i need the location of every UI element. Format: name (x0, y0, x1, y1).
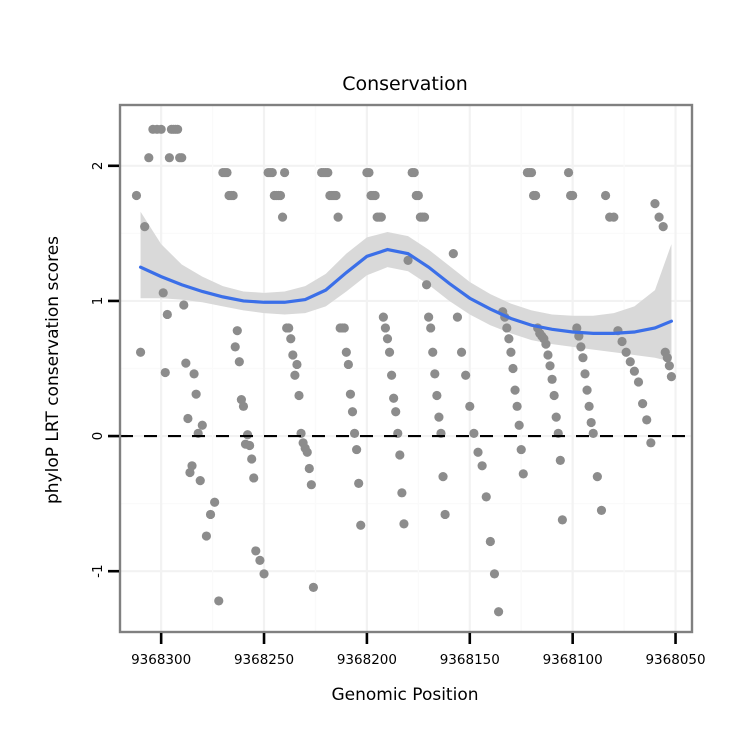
data-point (389, 394, 398, 403)
data-point (163, 310, 172, 319)
data-point (307, 480, 316, 489)
data-point (504, 334, 513, 343)
data-point (449, 249, 458, 258)
data-point (422, 280, 431, 289)
data-point (303, 448, 312, 457)
data-point (609, 213, 618, 222)
data-point (391, 407, 400, 416)
data-point (517, 445, 526, 454)
y-tick-label: 0 (90, 432, 106, 441)
data-point (334, 213, 343, 222)
x-tick-label: 9368300 (131, 652, 191, 668)
x-tick-label: 9368200 (337, 652, 397, 668)
data-point (414, 191, 423, 200)
data-point (513, 402, 522, 411)
data-point (161, 368, 170, 377)
x-tick-label: 9368100 (543, 652, 603, 668)
data-point (432, 391, 441, 400)
data-point (515, 421, 524, 430)
data-point (210, 498, 219, 507)
data-point (231, 342, 240, 351)
data-point (377, 213, 386, 222)
data-point (646, 438, 655, 447)
data-point (486, 537, 495, 546)
chart-canvas: Conservation phyloP LRT conservation sco… (0, 0, 750, 750)
data-point (453, 313, 462, 322)
data-point (597, 506, 606, 515)
data-point (564, 168, 573, 177)
data-point (457, 348, 466, 357)
data-point (634, 377, 643, 386)
x-tick-label: 9368250 (234, 652, 294, 668)
data-point (159, 288, 168, 297)
data-point (589, 429, 598, 438)
data-point (278, 213, 287, 222)
data-point (593, 472, 602, 481)
data-point (187, 461, 196, 470)
data-point (473, 448, 482, 457)
y-tick-label: 1 (90, 297, 106, 306)
data-point (397, 488, 406, 497)
data-point (229, 191, 238, 200)
x-tick-label: 9368150 (440, 652, 500, 668)
data-point (434, 413, 443, 422)
data-point (556, 456, 565, 465)
data-point (309, 583, 318, 592)
data-point (519, 469, 528, 478)
data-point (364, 168, 373, 177)
data-point (288, 350, 297, 359)
data-point (438, 472, 447, 481)
data-point (638, 399, 647, 408)
data-point (352, 445, 361, 454)
data-point (440, 510, 449, 519)
data-point (650, 199, 659, 208)
data-point (420, 213, 429, 222)
data-point (276, 191, 285, 200)
y-tick-label: 2 (90, 162, 106, 171)
data-point (626, 357, 635, 366)
data-point (494, 607, 503, 616)
data-point (430, 369, 439, 378)
data-point (585, 402, 594, 411)
y-axis-title: phyloP LRT conservation scores (43, 236, 63, 504)
data-point (189, 369, 198, 378)
data-point (346, 390, 355, 399)
x-tick-label: 9368050 (645, 652, 705, 668)
data-point (222, 168, 231, 177)
data-point (630, 367, 639, 376)
data-point (379, 313, 388, 322)
data-point (663, 353, 672, 362)
data-point (508, 364, 517, 373)
data-point (294, 391, 303, 400)
data-point (558, 515, 567, 524)
y-tick-label: -1 (90, 564, 106, 577)
data-point (344, 360, 353, 369)
data-point (478, 461, 487, 470)
data-point (541, 340, 550, 349)
data-point (642, 415, 651, 424)
data-point (385, 348, 394, 357)
data-point (251, 546, 260, 555)
data-point (132, 191, 141, 200)
data-point (268, 168, 277, 177)
data-point (136, 348, 145, 357)
data-point (531, 191, 540, 200)
data-point (280, 168, 289, 177)
data-point (465, 402, 474, 411)
data-point (506, 348, 515, 357)
data-point (165, 153, 174, 162)
data-point (202, 531, 211, 540)
data-point (550, 391, 559, 400)
data-point (502, 323, 511, 332)
data-point (578, 353, 587, 362)
data-point (192, 390, 201, 399)
data-point (387, 371, 396, 380)
data-point (196, 476, 205, 485)
data-point (239, 402, 248, 411)
data-point (284, 323, 293, 332)
data-point (659, 222, 668, 231)
data-point (527, 168, 536, 177)
data-point (622, 348, 631, 357)
data-point (545, 361, 554, 370)
data-point (354, 479, 363, 488)
data-point (667, 372, 676, 381)
data-point (426, 323, 435, 332)
data-point (461, 371, 470, 380)
data-point (410, 168, 419, 177)
data-point (617, 337, 626, 346)
data-point (247, 454, 256, 463)
data-point (233, 326, 242, 335)
data-point (469, 429, 478, 438)
data-point (183, 414, 192, 423)
data-point (547, 375, 556, 384)
data-point (490, 569, 499, 578)
data-point (356, 521, 365, 530)
data-point (144, 153, 153, 162)
data-point (340, 323, 349, 332)
data-point (424, 313, 433, 322)
data-point (198, 421, 207, 430)
data-point (259, 569, 268, 578)
conservation-plot: Conservation phyloP LRT conservation sco… (0, 0, 750, 750)
data-point (381, 323, 390, 332)
data-point (177, 153, 186, 162)
data-point (383, 334, 392, 343)
data-point (348, 407, 357, 416)
chart-title: Conservation (342, 73, 468, 95)
data-point (173, 125, 182, 134)
data-point (249, 473, 258, 482)
data-point (214, 596, 223, 605)
x-axis-title: Genomic Position (331, 685, 478, 705)
data-point (235, 357, 244, 366)
data-point (399, 519, 408, 528)
data-point (245, 441, 254, 450)
data-point (323, 168, 332, 177)
data-point (568, 191, 577, 200)
data-point (587, 418, 596, 427)
data-point (286, 334, 295, 343)
data-point (342, 348, 351, 357)
data-point (510, 386, 519, 395)
data-point (290, 371, 299, 380)
data-point (582, 386, 591, 395)
data-point (181, 358, 190, 367)
data-point (580, 369, 589, 378)
data-point (157, 125, 166, 134)
data-point (482, 492, 491, 501)
data-point (601, 191, 610, 200)
data-point (428, 348, 437, 357)
data-point (140, 222, 149, 231)
data-point (543, 350, 552, 359)
data-point (206, 510, 215, 519)
data-point (552, 413, 561, 422)
data-point (243, 430, 252, 439)
data-point (576, 342, 585, 351)
data-point (292, 360, 301, 369)
data-point (665, 361, 674, 370)
data-point (305, 464, 314, 473)
data-point (255, 556, 264, 565)
data-point (350, 429, 359, 438)
data-point (654, 213, 663, 222)
data-point (179, 300, 188, 309)
data-point (395, 450, 404, 459)
data-point (331, 191, 340, 200)
data-point (371, 191, 380, 200)
